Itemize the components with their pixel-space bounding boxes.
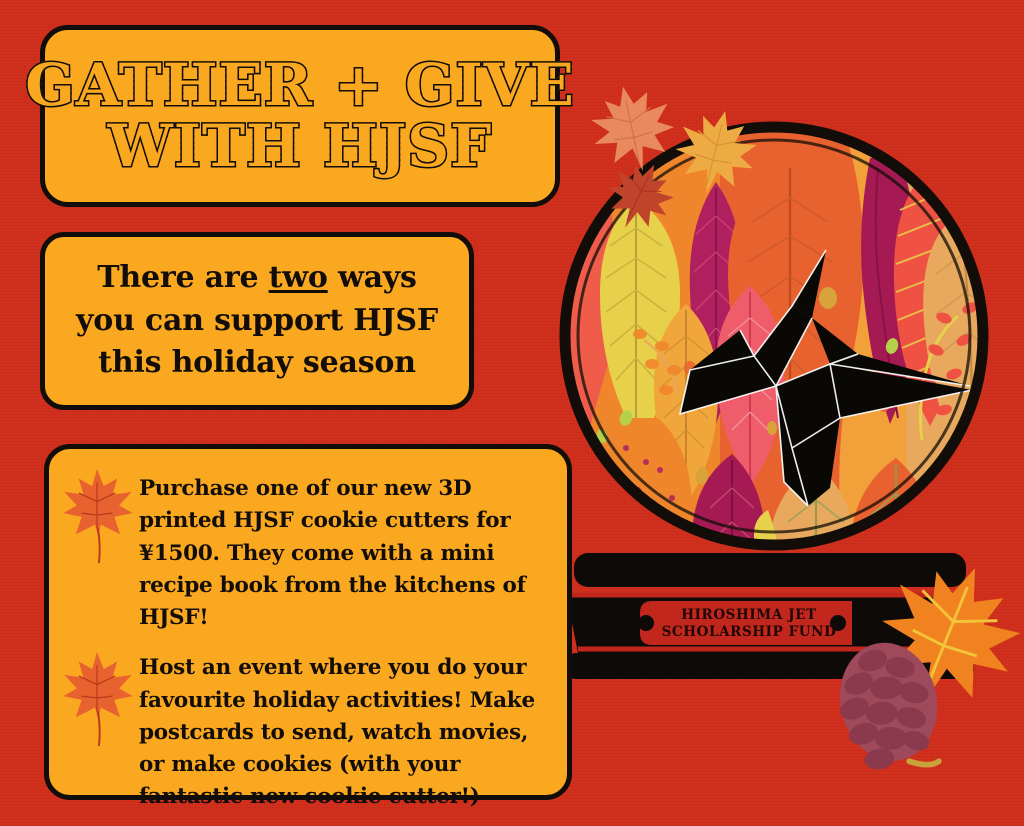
maple-leaf-icon xyxy=(59,648,135,744)
pinecone-icon xyxy=(828,640,956,775)
lede-text: There are two ways you can support HJSF … xyxy=(63,257,451,385)
plaque-line-2: SCHOLARSHIP FUND xyxy=(662,624,837,641)
page-title-line-1: GATHER + GIVE xyxy=(25,56,575,115)
lede-emphasis: two xyxy=(269,260,328,295)
plaque-line-1: HIROSHIMA JET xyxy=(681,607,817,624)
ways-card: Purchase one of our new 3D printed HJSF … xyxy=(44,444,572,800)
list-item-text: Purchase one of our new 3D printed HJSF … xyxy=(139,465,551,634)
title-card: GATHER + GIVE WITH HJSF xyxy=(40,25,560,207)
page-title-line-2: WITH HJSF xyxy=(108,117,493,176)
poster-canvas: HIROSHIMA JET SCHOLARSHIP FUND xyxy=(0,0,1024,826)
lede-card: There are two ways you can support HJSF … xyxy=(40,232,474,410)
list-item: Host an event where you do your favourit… xyxy=(59,648,551,813)
list-item-text: Host an event where you do your favourit… xyxy=(139,648,551,813)
list-item: Purchase one of our new 3D printed HJSF … xyxy=(59,465,551,634)
maple-leaf-icon xyxy=(59,465,135,561)
lede-before: There are xyxy=(97,260,268,295)
